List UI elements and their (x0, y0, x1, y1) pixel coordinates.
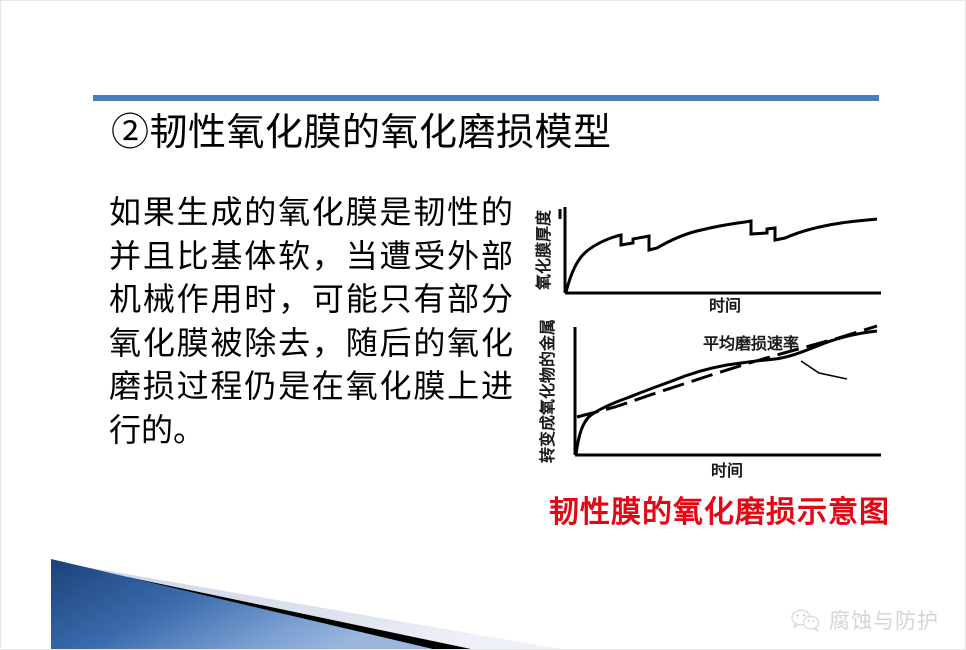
watermark: 腐蚀与防护 (789, 605, 939, 635)
figure-image: 氧化膜厚度 时间 平均磨损速率 转变成氧化物的金属 (529, 193, 889, 489)
corner-decoration (1, 539, 561, 649)
black-triangle (51, 561, 471, 649)
watermark-label: 腐蚀与防护 (829, 605, 939, 635)
top-chart-ylabel: 氧化膜厚度 (534, 209, 553, 291)
pale-triangle (51, 561, 561, 649)
wechat-icon (789, 608, 821, 632)
title-underline-rule (93, 95, 879, 101)
page-title: ②韧性氧化膜的氧化磨损模型 (111, 111, 891, 154)
top-chart: 氧化膜厚度 时间 (534, 207, 881, 315)
top-chart-xlabel: 时间 (709, 296, 741, 315)
figure-caption: 韧性膜的氧化磨损示意图 (549, 495, 890, 531)
annotation-leader-line (801, 361, 847, 379)
bottom-chart-xlabel: 时间 (711, 461, 743, 480)
slide-canvas: ②韧性氧化膜的氧化磨损模型 如果生成的氧化膜是韧性的并且比基体软，当遭受外部机械… (0, 0, 966, 650)
bottom-chart-ylabel: 转变成氧化物的金属 (538, 319, 557, 463)
oxidation-wear-diagram: 氧化膜厚度 时间 平均磨损速率 转变成氧化物的金属 (529, 193, 889, 489)
bottom-chart: 平均磨损速率 转变成氧化物的金属 时间 (538, 319, 881, 480)
body-paragraph: 如果生成的氧化膜是韧性的并且比基体软，当遭受外部机械作用时，可能只有部分氧化膜被… (109, 191, 513, 452)
bottom-chart-annotation: 平均磨损速率 (703, 334, 799, 353)
top-chart-curve (566, 219, 877, 292)
blue-triangle (51, 559, 433, 649)
